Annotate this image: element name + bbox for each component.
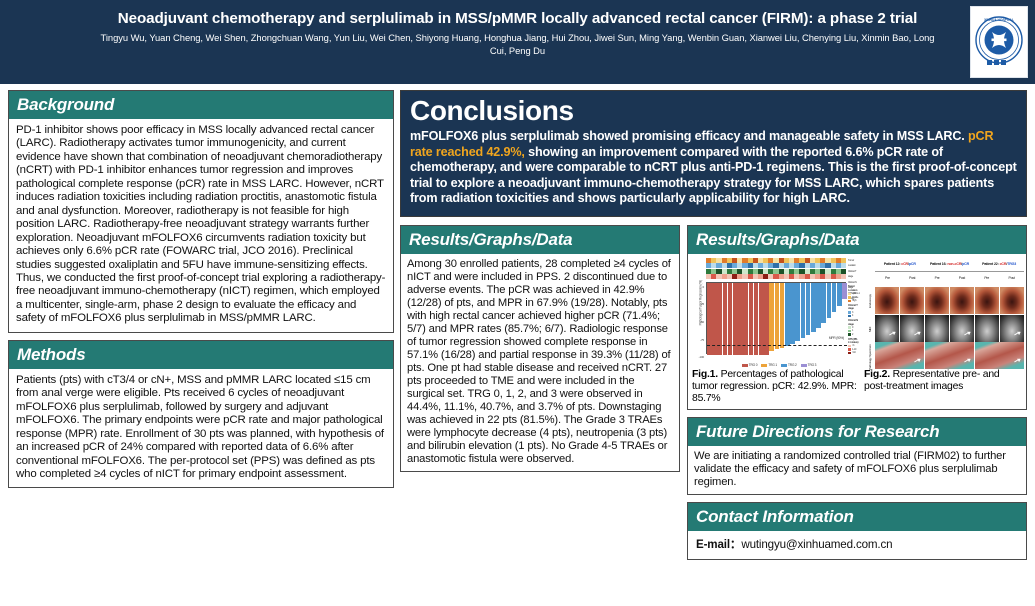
email-address[interactable]: wutingyu@xinhuamed.com.cn — [741, 538, 892, 551]
panel-contact-body: E-mail：wutingyu@xinhuamed.com.cn — [688, 531, 1026, 559]
figure-1-caption: Fig.1. Percentages of pathological tumor… — [692, 369, 860, 405]
trg-legend-0: TRG 0 — [742, 359, 758, 372]
col-header-pre-2: Pre — [974, 271, 999, 285]
chart-mpr-threshold-line — [707, 345, 847, 346]
patient-name-0: Patient 12: — [884, 262, 901, 266]
panel-results-text-heading: Results/Graphs/Data — [401, 226, 679, 254]
panel-results-figures-body: Tumor Location Clinical T stage Clinical… — [688, 254, 1026, 409]
patient-tag1-0: cCR — [901, 262, 908, 266]
patient-tag2-2: TRG3 — [1007, 262, 1016, 266]
track-label-0: Tumor Location — [848, 258, 860, 269]
pathology-image — [975, 342, 1024, 369]
col-header-pre-0: Pre — [875, 271, 900, 285]
figure-2: Patient 12: cCR/pCR Patient 16: non-cCR/… — [864, 258, 1024, 405]
pointer-arrow-icon — [964, 359, 970, 363]
y-tick-4: -100 — [699, 351, 704, 364]
figure-2-row-labels: Endoscopy MRI Pathology Specimen — [864, 287, 875, 371]
author-list: Tingyu Wu, Yuan Cheng, Wei Shen, Zhongch… — [78, 28, 957, 57]
trg-legend-label-2: TRG 2 — [788, 359, 797, 372]
panel-methods: Methods Patients (pts) with cT3/4 or cN+… — [8, 340, 394, 489]
patient-tag2-1: pCR — [962, 262, 969, 266]
pointer-arrow-icon — [1014, 331, 1020, 335]
panel-results-text-body: Among 30 enrolled patients, 28 completed… — [401, 254, 679, 471]
poster-header: Neoadjuvant chemotherapy and serplulimab… — [0, 0, 1035, 86]
legend-text-t4: 4 — [852, 314, 853, 317]
patient-header-0: Patient 12: cCR/pCR — [875, 258, 925, 271]
mri-image — [950, 315, 974, 342]
col-header-post-2: Post — [999, 271, 1024, 285]
panel-background-heading: Background — [9, 91, 393, 119]
xinhua-hospital-logo-icon: XINHUA HOSPITAL — [970, 6, 1028, 78]
panel-conclusions: Conclusions mFOLFOX6 plus serplulimab sh… — [400, 90, 1027, 217]
panel-conclusions-text: mFOLFOX6 plus serplulimab showed promisi… — [410, 129, 1017, 207]
col-header-pre-1: Pre — [925, 271, 950, 285]
trg-legend-3: TRG 3 — [801, 359, 817, 372]
pointer-arrow-icon — [889, 331, 895, 335]
figure-1: Tumor Location Clinical T stage Clinical… — [692, 258, 860, 405]
legend-text-loc-high: High — [852, 299, 856, 302]
oncoprint-row-clinical-n-stage — [706, 269, 846, 274]
svg-text:XINHUA HOSPITAL: XINHUA HOSPITAL — [984, 18, 1014, 22]
panel-methods-heading: Methods — [9, 341, 393, 369]
patient-tag1-1: non-cCR — [947, 262, 961, 266]
page-title: Neoadjuvant chemotherapy and serplulimab… — [78, 5, 957, 28]
waterfall-chart: Tumor Location Clinical T stage Clinical… — [692, 258, 860, 366]
chart-trg-legend: TRG 0 TRG 1 TRG 2 TRG 3 — [714, 359, 844, 372]
left-column: Background PD-1 inhibitor shows poor eff… — [8, 90, 394, 495]
chart-mpr-annotation: MPR (90%) — [829, 332, 844, 345]
legend-item-n2: 2 — [848, 333, 860, 336]
trg-legend-label-1: TRG 1 — [768, 359, 777, 372]
panel-future-text: We are initiating a randomized controlle… — [688, 446, 1026, 494]
legend-title-3: CPS (PD-L1 status) — [848, 338, 860, 345]
chart-plot-area: MPR (90%) — [706, 282, 846, 354]
panel-future-heading: Future Directions for Research — [688, 418, 1026, 446]
legend-text-n2: 2 — [852, 333, 853, 336]
clinical-image-grid: Patient 12: cCR/pCR Patient 16: non-cCR/… — [864, 258, 1024, 366]
panel-future-directions: Future Directions for Research We are in… — [687, 417, 1027, 495]
panel-background-text: PD-1 inhibitor shows poor efficacy in MS… — [9, 119, 393, 332]
endoscopy-image — [875, 287, 899, 314]
pointer-arrow-icon — [914, 359, 920, 363]
trg-legend-1: TRG 1 — [761, 359, 777, 372]
chart-side-legend: Tumor Location Low Middle High Clinical … — [848, 284, 860, 355]
panel-results-figures: Results/Graphs/Data — [687, 225, 1027, 410]
legend-title-1: Clinical T stage — [848, 304, 860, 311]
panel-results-figures-heading: Results/Graphs/Data — [688, 226, 1026, 254]
panel-contact-heading: Contact Information — [688, 503, 1026, 531]
figure-2-column-headers: Pre Post Pre Post Pre Post — [875, 271, 1024, 285]
pathology-image — [875, 342, 924, 369]
endoscopy-image — [1000, 287, 1024, 314]
oncoprint-row-clinical-t-stage — [706, 263, 846, 268]
email-label: E-mail： — [696, 538, 741, 551]
image-row-mri — [875, 315, 1024, 342]
poster-root: Neoadjuvant chemotherapy and serplulimab… — [0, 0, 1035, 606]
oncoprint-tracks — [706, 258, 846, 280]
image-row-pathology — [875, 342, 1024, 369]
mri-image — [925, 315, 949, 342]
legend-title-0: Tumor Location — [848, 285, 860, 292]
track-label-1: Clinical T stage — [848, 269, 860, 280]
mri-image — [1000, 315, 1024, 342]
col-header-post-1: Post — [949, 271, 974, 285]
oncoprint-row-tumor-location — [706, 258, 846, 263]
legend-item-cps-high: >10 — [848, 351, 860, 354]
endoscopy-image — [900, 287, 924, 314]
panel-contact: Contact Information E-mail：wutingyu@xinh… — [687, 502, 1027, 560]
patient-header-1: Patient 16: non-cCR/pCR — [925, 258, 975, 271]
col-header-post-0: Post — [900, 271, 925, 285]
conclusions-part1: mFOLFOX6 plus serplulimab showed promisi… — [410, 129, 968, 143]
trg-legend-label-0: TRG 0 — [749, 359, 758, 372]
legend-item-t4: 4 — [848, 314, 860, 317]
panel-background: Background PD-1 inhibitor shows poor eff… — [8, 90, 394, 333]
panel-methods-text: Patients (pts) with cT3/4 or cN+, MSS an… — [9, 369, 393, 488]
legend-item-loc-high: High — [848, 299, 860, 302]
patient-header-2: Patient 22: cCR/TRG3 — [974, 258, 1024, 271]
figure-2-body: Endoscopy MRI Pathology Specimen — [864, 287, 1024, 371]
pointer-arrow-icon — [964, 331, 970, 335]
endoscopy-image — [975, 287, 999, 314]
figure-2-caption: Fig.2. Representative pre- and post-trea… — [864, 369, 1024, 393]
endoscopy-image — [925, 287, 949, 314]
main-column: Conclusions mFOLFOX6 plus serplulimab sh… — [400, 90, 1027, 567]
endoscopy-image — [950, 287, 974, 314]
oncoprint-row-cps-pdl1 — [706, 274, 846, 279]
patient-name-2: Patient 22: — [982, 262, 999, 266]
patient-tag2-0: pCR — [909, 262, 916, 266]
panel-conclusions-heading: Conclusions — [410, 95, 1017, 127]
pointer-arrow-icon — [1014, 359, 1020, 363]
results-text-column: Results/Graphs/Data Among 30 enrolled pa… — [400, 225, 680, 479]
pathology-image — [925, 342, 974, 369]
mri-image — [875, 315, 899, 342]
image-row-endoscopy — [875, 287, 1024, 314]
results-figures-column: Results/Graphs/Data — [687, 225, 1027, 567]
patient-name-1: Patient 16: — [930, 262, 947, 266]
results-row: Results/Graphs/Data Among 30 enrolled pa… — [400, 225, 1027, 567]
trg-legend-label-3: TRG 3 — [808, 359, 817, 372]
y-tick-3: -75 — [700, 334, 704, 347]
figure-2-cells — [875, 287, 1024, 371]
figure-2-patient-headers: Patient 12: cCR/pCR Patient 16: non-cCR/… — [875, 258, 1024, 271]
legend-text-cps-high: >10 — [852, 351, 856, 354]
mri-image — [900, 315, 924, 342]
panel-results-text: Results/Graphs/Data Among 30 enrolled pa… — [400, 225, 680, 472]
legend-title-2: Clinical N stage — [848, 319, 860, 326]
mri-image — [975, 315, 999, 342]
trg-legend-2: TRG 2 — [781, 359, 797, 372]
pointer-arrow-icon — [914, 331, 920, 335]
